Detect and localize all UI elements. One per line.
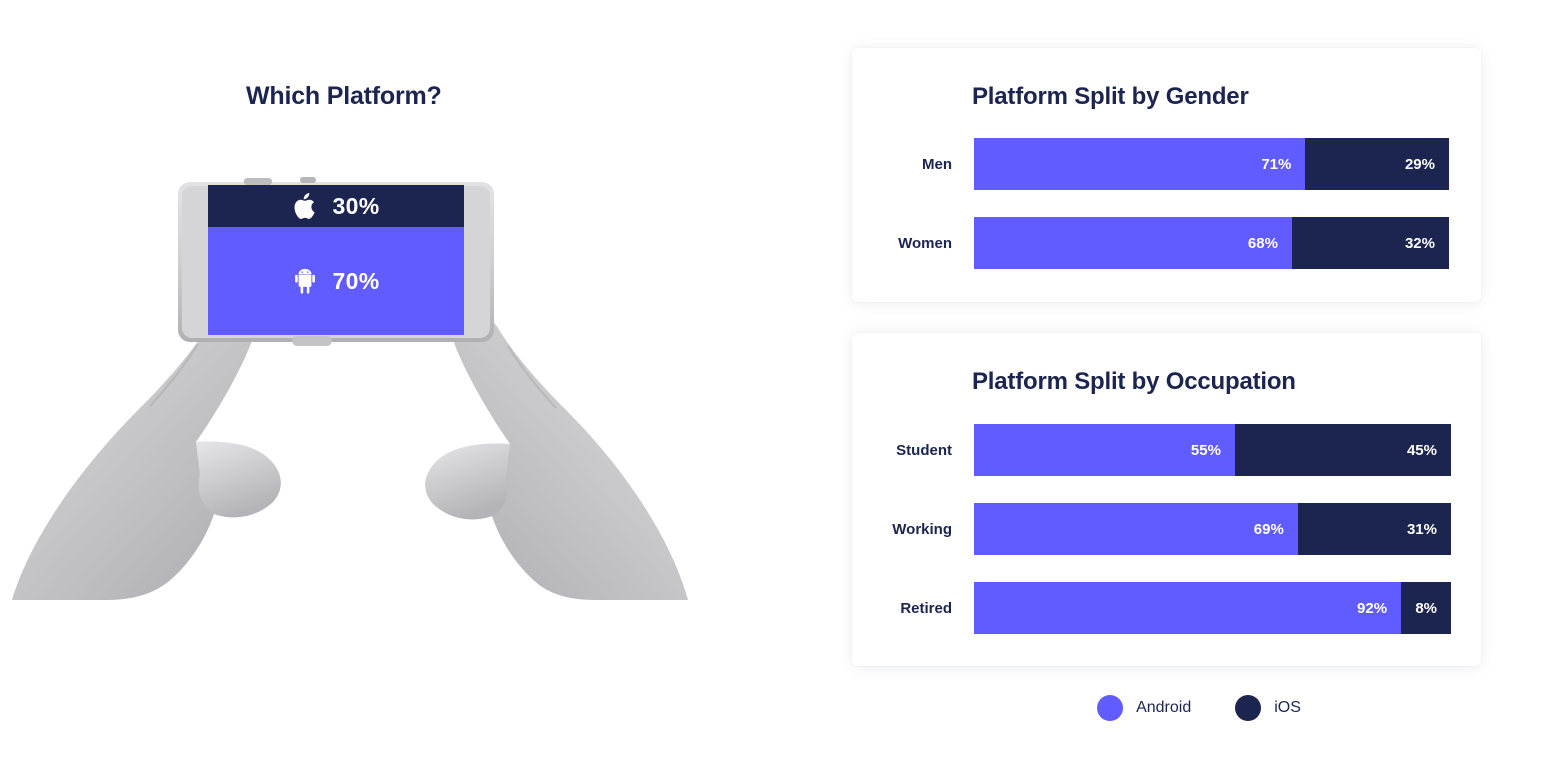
legend-item-ios[interactable]: iOS [1235, 695, 1301, 721]
gender-bar-rows: Men 71% 29% Women 68% 32% [852, 138, 1481, 269]
thumb-overlays [196, 442, 510, 520]
android-share-value: 70% [333, 268, 380, 295]
page-title: Which Platform? [246, 82, 442, 111]
row-label-student: Student [852, 442, 974, 459]
platform-illustration-panel: Which Platform? [0, 0, 830, 766]
row-label-working: Working [852, 521, 974, 538]
card-platform-split-by-gender: Platform Split by Gender Men 71% 29% Wom… [852, 48, 1481, 302]
bar-segment-ios[interactable]: 32% [1292, 217, 1449, 269]
legend-label-ios: iOS [1274, 699, 1301, 717]
phone-screen-ios-band: 30% [208, 185, 464, 227]
table-row: Women 68% 32% [852, 217, 1481, 269]
chart-legend: Android iOS [830, 695, 1568, 721]
bar-segment-ios[interactable]: 29% [1305, 138, 1449, 190]
table-row: Retired 92% 8% [852, 582, 1481, 634]
table-row: Men 71% 29% [852, 138, 1481, 190]
stacked-bar-retired: 92% 8% [974, 582, 1451, 634]
circle-swatch-icon [1097, 695, 1123, 721]
apple-icon [293, 193, 317, 219]
stacked-bar-men: 71% 29% [974, 138, 1449, 190]
circle-swatch-icon [1235, 695, 1261, 721]
stacked-bar-working: 69% 31% [974, 503, 1451, 555]
bar-segment-ios[interactable]: 31% [1298, 503, 1451, 555]
card-title-occupation: Platform Split by Occupation [972, 368, 1296, 396]
row-label-retired: Retired [852, 600, 974, 617]
legend-item-android[interactable]: Android [1097, 695, 1191, 721]
bar-segment-ios[interactable]: 45% [1235, 424, 1451, 476]
bar-segment-android[interactable]: 69% [974, 503, 1298, 555]
bar-segment-android[interactable]: 92% [974, 582, 1401, 634]
ios-share-value: 30% [333, 193, 380, 220]
bar-segment-android[interactable]: 55% [974, 424, 1235, 476]
legend-label-android: Android [1136, 699, 1191, 717]
bar-segment-android[interactable]: 68% [974, 217, 1292, 269]
occupation-bar-rows: Student 55% 45% Working 69% 31% Retired … [852, 424, 1481, 634]
table-row: Working 69% 31% [852, 503, 1481, 555]
row-label-men: Men [852, 156, 974, 173]
bar-segment-android[interactable]: 71% [974, 138, 1305, 190]
charts-panel: Platform Split by Gender Men 71% 29% Wom… [830, 0, 1568, 766]
stacked-bar-student: 55% 45% [974, 424, 1451, 476]
card-platform-split-by-occupation: Platform Split by Occupation Student 55%… [852, 333, 1481, 666]
row-label-women: Women [852, 235, 974, 252]
bar-segment-ios[interactable]: 8% [1401, 582, 1451, 634]
card-title-gender: Platform Split by Gender [972, 83, 1249, 111]
phone-screen-android-band: 70% [208, 227, 464, 335]
table-row: Student 55% 45% [852, 424, 1481, 476]
stacked-bar-women: 68% 32% [974, 217, 1449, 269]
android-icon [293, 268, 317, 294]
